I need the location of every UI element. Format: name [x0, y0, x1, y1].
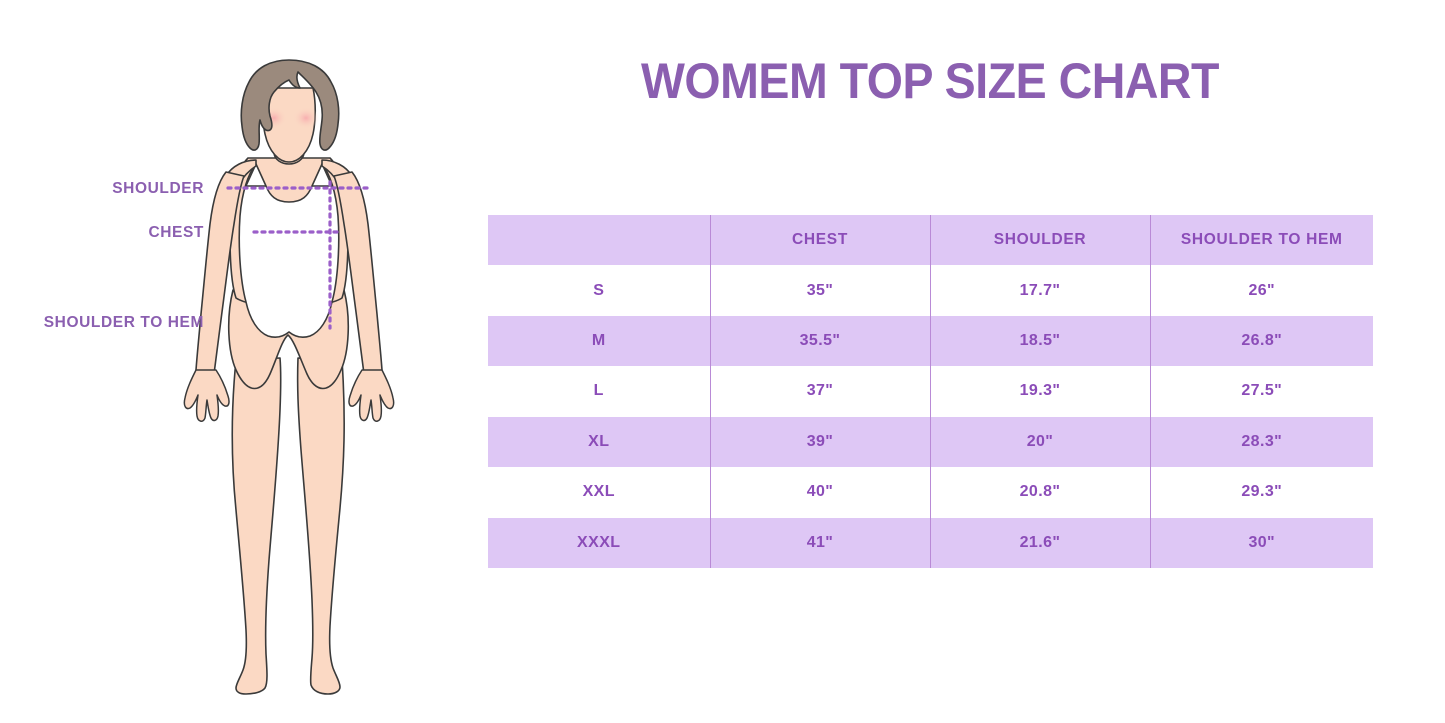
cell-shoulder: 21.6": [930, 518, 1150, 569]
cell-size: M: [488, 316, 710, 366]
cell-shoulder-to-hem: 28.3": [1150, 417, 1373, 467]
cell-chest: 37": [710, 366, 930, 416]
cell-size: S: [488, 265, 710, 315]
cell-chest: 40": [710, 467, 930, 517]
cell-shoulder: 20": [930, 417, 1150, 467]
column-header-shoulder: SHOULDER: [930, 215, 1150, 265]
size-chart-page: WOMEM TOP SIZE CHART: [0, 0, 1445, 723]
cell-shoulder-to-hem: 27.5": [1150, 366, 1373, 416]
cell-shoulder: 18.5": [930, 316, 1150, 366]
blush-right: [293, 107, 319, 129]
page-title: WOMEM TOP SIZE CHART: [502, 52, 1358, 110]
table-row: L 37" 19.3" 27.5": [488, 366, 1373, 416]
cell-chest: 35": [710, 265, 930, 315]
table-header-row: CHEST SHOULDER SHOULDER TO HEM: [488, 215, 1373, 265]
table-row: XL 39" 20" 28.3": [488, 417, 1373, 467]
cell-chest: 39": [710, 417, 930, 467]
cell-shoulder: 17.7": [930, 265, 1150, 315]
column-header-size: [488, 215, 710, 265]
measure-label-chest: CHEST: [148, 224, 204, 242]
measure-label-shoulder: SHOULDER: [112, 180, 204, 198]
column-header-chest: CHEST: [710, 215, 930, 265]
table-row: XXL 40" 20.8" 29.3": [488, 467, 1373, 517]
right-leg: [298, 358, 345, 694]
body-group: [184, 60, 393, 694]
cell-chest: 35.5": [710, 316, 930, 366]
size-chart-table: CHEST SHOULDER SHOULDER TO HEM S 35" 17.…: [488, 215, 1373, 568]
cell-shoulder-to-hem: 29.3": [1150, 467, 1373, 517]
cell-size: XXXL: [488, 518, 710, 569]
cell-size: XL: [488, 417, 710, 467]
cell-shoulder: 19.3": [930, 366, 1150, 416]
cell-shoulder-to-hem: 26.8": [1150, 316, 1373, 366]
measure-label-shoulder-to-hem: SHOULDER TO HEM: [44, 314, 204, 332]
right-hand: [349, 370, 394, 421]
cell-size: XXL: [488, 467, 710, 517]
left-leg: [232, 358, 281, 694]
cell-chest: 41": [710, 518, 930, 569]
table-row: S 35" 17.7" 26": [488, 265, 1373, 315]
cell-size: L: [488, 366, 710, 416]
female-body-illustration: [170, 40, 420, 700]
table-row: M 35.5" 18.5" 26.8": [488, 316, 1373, 366]
cell-shoulder: 20.8": [930, 467, 1150, 517]
cell-shoulder-to-hem: 30": [1150, 518, 1373, 569]
table-row: XXXL 41" 21.6" 30": [488, 518, 1373, 569]
cell-shoulder-to-hem: 26": [1150, 265, 1373, 315]
left-hand: [184, 370, 229, 421]
column-header-shoulder-to-hem: SHOULDER TO HEM: [1150, 215, 1373, 265]
